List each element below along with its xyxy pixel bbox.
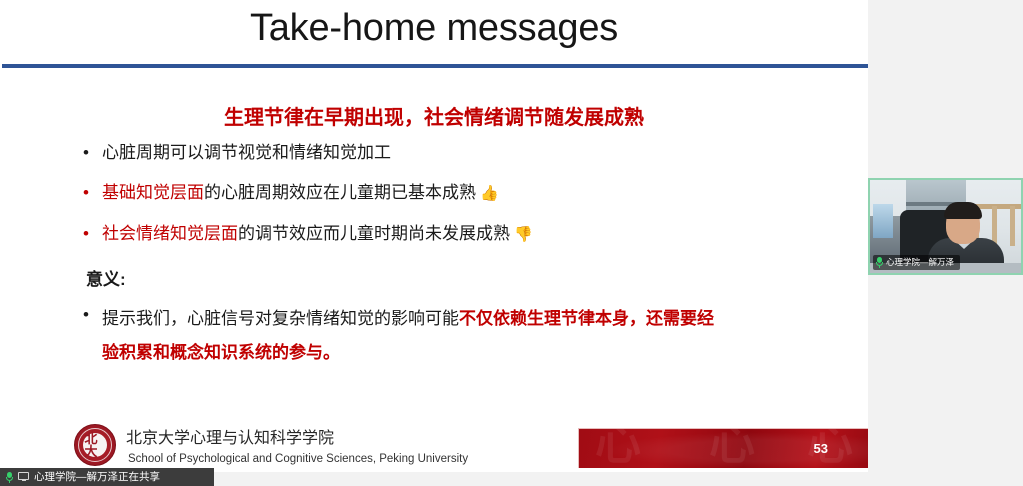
bullet-segment: 的心脏周期效应在儿童期已基本成熟 [204, 183, 476, 202]
slide-heading: 生理节律在早期出现，社会情绪调节随发展成熟 [0, 105, 868, 131]
screen-share-status-label: 心理学院—解万泽正在共享 [34, 468, 160, 486]
footer-organization-chinese: 北京大学心理与认知科学学院 [126, 428, 334, 449]
seal-glyph-text: 北大 [85, 432, 106, 458]
microphone-icon[interactable] [6, 472, 13, 483]
participant-name-chip: 心理学院—解万泽 [873, 255, 960, 270]
bullet-segment: 心脏周期可以调节视觉和情绪知觉加工 [102, 143, 391, 162]
meaning-plain-text: 提示我们，心脏信号对复杂情绪知觉的影响可能 [102, 309, 459, 328]
bullet-marker-icon: • [80, 302, 102, 328]
bullet-marker-icon: • [80, 140, 102, 166]
bullet-text: 社会情绪知觉层面的调节效应而儿童时期尚未发展成熟👎 [102, 221, 533, 248]
bullet-item-2: • 基础知觉层面的心脏周期效应在儿童期已基本成熟👍 [80, 180, 840, 207]
bullet-segment-emphasis: 社会情绪知觉层面 [102, 224, 238, 243]
video-panel: 心理学院—解万泽 [868, 0, 1023, 486]
peking-university-seal-logo: 北大 [74, 424, 116, 466]
meaning-bullet-item: • 提示我们，心脏信号对复杂情绪知觉的影响可能不仅依赖生理节律本身，还需要经验积… [80, 302, 780, 370]
meaning-section: • 提示我们，心脏信号对复杂情绪知觉的影响可能不仅依赖生理节律本身，还需要经验积… [80, 302, 780, 370]
microphone-icon [876, 257, 883, 268]
meaning-section-label: 意义: [86, 268, 126, 292]
bullet-marker-icon: • [80, 180, 102, 206]
video-cloth [873, 204, 893, 238]
footer-organization-english: School of Psychological and Cognitive Sc… [128, 452, 468, 467]
video-person-hair [944, 202, 982, 219]
video-railing-bar [1010, 206, 1015, 246]
thumbs-up-icon: 👍 [476, 185, 499, 202]
bullet-marker-icon: • [80, 221, 102, 247]
monitor-icon[interactable] [18, 472, 29, 482]
bullet-text: 基础知觉层面的心脏周期效应在儿童期已基本成熟👍 [102, 180, 499, 207]
bullet-segment-emphasis: 基础知觉层面 [102, 183, 204, 202]
slide-title: Take-home messages [0, 2, 868, 54]
banner-watermark-glyph: 心 [709, 428, 755, 468]
meeting-screen-share-window: Take-home messages 生理节律在早期出现，社会情绪调节随发展成熟… [0, 0, 1023, 486]
bullet-item-3: • 社会情绪知觉层面的调节效应而儿童时期尚未发展成熟👎 [80, 221, 840, 248]
bullet-text: 心脏周期可以调节视觉和情绪知觉加工 [102, 140, 391, 166]
participant-name-label: 心理学院—解万泽 [886, 255, 954, 270]
slide-number: 53 [814, 440, 828, 458]
title-divider-rule [2, 64, 868, 68]
meaning-emphasis-line-2: 验积累和概念知识系统的参与。 [102, 343, 340, 362]
participant-video-tile[interactable]: 心理学院—解万泽 [868, 178, 1023, 275]
bullet-segment: 的调节效应而儿童时期尚未发展成熟 [238, 224, 510, 243]
slide-number-banner: 心 心 心 53 [578, 428, 868, 468]
meaning-text: 提示我们，心脏信号对复杂情绪知觉的影响可能不仅依赖生理节律本身，还需要经验积累和… [102, 302, 714, 370]
bullet-item-1: • 心脏周期可以调节视觉和情绪知觉加工 [80, 140, 840, 166]
banner-watermark-glyph: 心 [595, 428, 641, 468]
meaning-emphasis-line-1: 不仅依赖生理节律本身，还需要经 [459, 309, 714, 328]
thumbs-down-icon: 👎 [510, 226, 533, 243]
bullet-list: • 心脏周期可以调节视觉和情绪知觉加工 • 基础知觉层面的心脏周期效应在儿童期已… [80, 140, 840, 262]
presentation-slide: Take-home messages 生理节律在早期出现，社会情绪调节随发展成熟… [0, 0, 868, 472]
screen-share-status-bar[interactable]: 心理学院—解万泽正在共享 [0, 468, 214, 486]
